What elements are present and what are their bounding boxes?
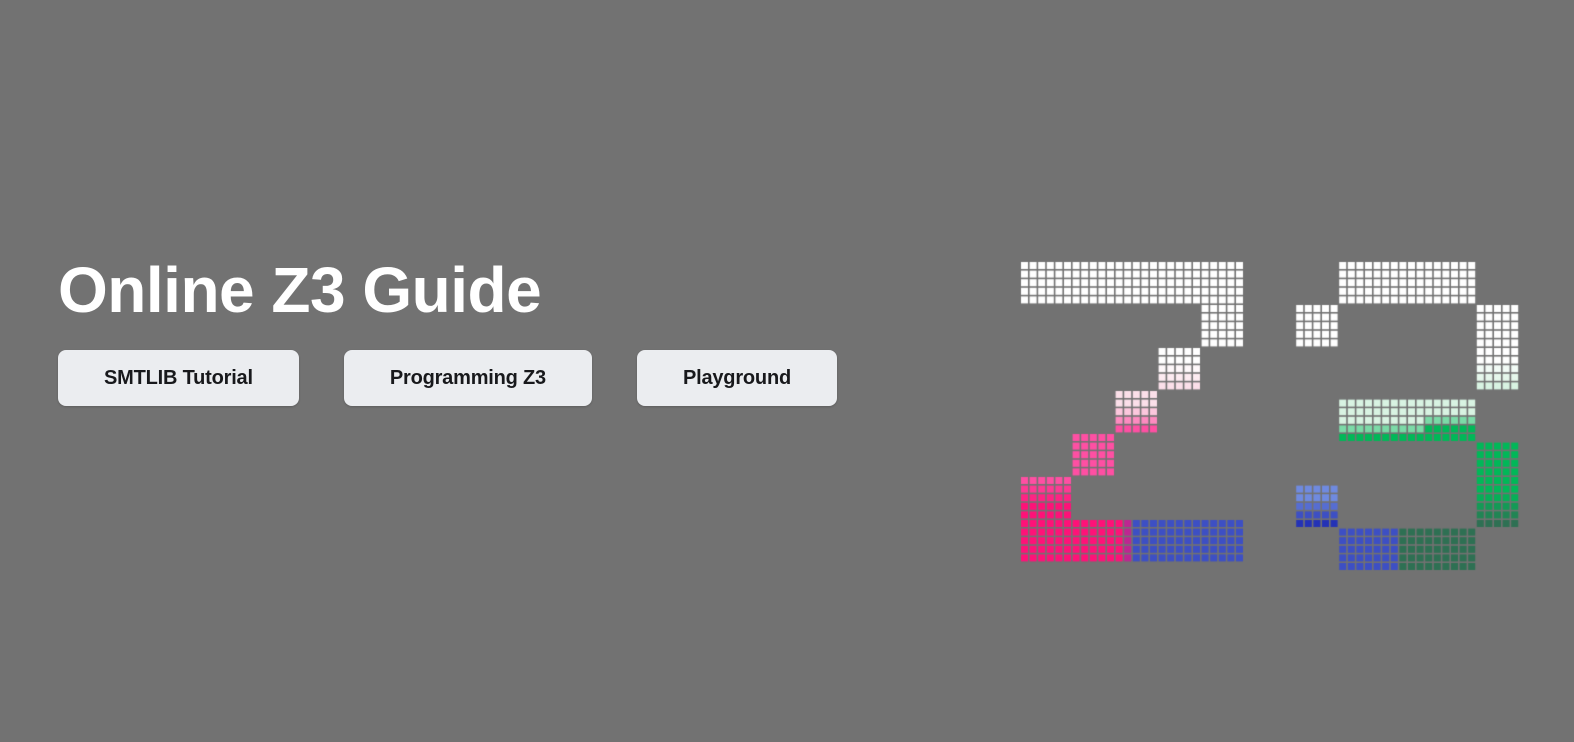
z3-pixel-logo — [1015, 252, 1525, 592]
page-title: Online Z3 Guide — [58, 258, 958, 322]
programming-z3-button[interactable]: Programming Z3 — [344, 350, 592, 406]
cta-button-row: SMTLIB Tutorial Programming Z3 Playgroun… — [58, 350, 958, 406]
z3-pixel-logo-canvas — [1015, 252, 1525, 592]
hero-section: Online Z3 Guide SMTLIB Tutorial Programm… — [0, 0, 1574, 742]
smtlib-tutorial-button[interactable]: SMTLIB Tutorial — [58, 350, 299, 406]
hero-text-block: Online Z3 Guide SMTLIB Tutorial Programm… — [58, 258, 958, 406]
playground-button[interactable]: Playground — [637, 350, 837, 406]
